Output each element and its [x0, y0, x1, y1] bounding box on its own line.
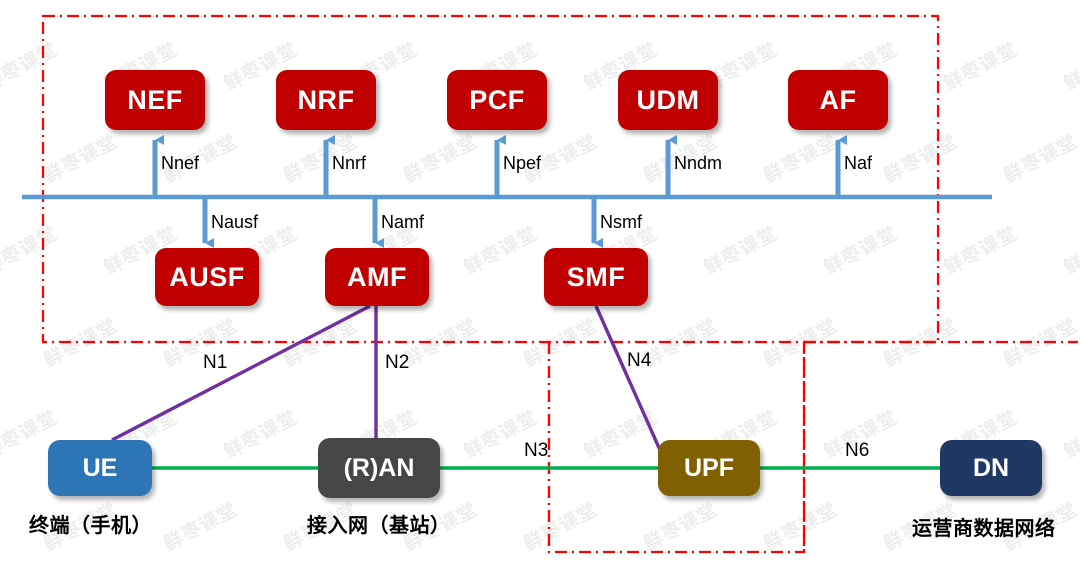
node-ran[interactable]: (R)AN	[318, 438, 440, 498]
iface-label-naf: Naf	[844, 153, 872, 174]
iface-label-nndm: Nndm	[674, 153, 722, 174]
iface-label-namf: Namf	[381, 212, 424, 233]
iface-label-nnrf: Nnrf	[332, 153, 366, 174]
ref-label-n6: N6	[845, 440, 869, 462]
link-n4	[596, 306, 668, 468]
node-smf[interactable]: SMF	[544, 248, 648, 306]
node-nrf-label: NRF	[298, 85, 355, 116]
node-ausf[interactable]: AUSF	[155, 248, 259, 306]
caption-ue: 终端（手机）	[29, 509, 152, 538]
node-amf[interactable]: AMF	[325, 248, 429, 306]
node-ausf-label: AUSF	[169, 262, 245, 293]
ref-label-n1: N1	[203, 352, 227, 374]
ref-label-n4: N4	[627, 350, 651, 372]
node-upf-label: UPF	[684, 454, 734, 483]
ref-label-n3: N3	[524, 440, 548, 462]
node-pcf[interactable]: PCF	[447, 70, 547, 130]
node-ue-label: UE	[83, 454, 118, 483]
caption-dn: 运营商数据网络	[912, 512, 1056, 541]
node-af-label: AF	[820, 85, 857, 116]
node-udm-label: UDM	[637, 85, 700, 116]
iface-label-npef: Npef	[503, 153, 541, 174]
node-ran-label: (R)AN	[344, 454, 415, 483]
diagram-canvas: 鲜枣课堂鲜枣课堂鲜枣课堂鲜枣课堂鲜枣课堂鲜枣课堂鲜枣课堂鲜枣课堂鲜枣课堂鲜枣课堂…	[0, 0, 1080, 568]
node-amf-label: AMF	[347, 262, 407, 293]
node-smf-label: SMF	[567, 262, 626, 293]
iface-label-nsmf: Nsmf	[600, 212, 642, 233]
iface-label-nnef: Nnef	[161, 153, 199, 174]
node-dn-label: DN	[973, 454, 1009, 483]
caption-ran: 接入网（基站）	[307, 509, 451, 538]
node-nef-label: NEF	[127, 85, 183, 116]
node-dn[interactable]: DN	[940, 440, 1042, 496]
node-nrf[interactable]: NRF	[276, 70, 376, 130]
node-af[interactable]: AF	[788, 70, 888, 130]
link-n1	[112, 306, 370, 440]
node-nef[interactable]: NEF	[105, 70, 205, 130]
node-pcf-label: PCF	[469, 85, 525, 116]
node-ue[interactable]: UE	[48, 440, 152, 496]
node-upf[interactable]: UPF	[658, 440, 760, 496]
ref-label-n2: N2	[385, 352, 409, 374]
iface-label-nausf: Nausf	[211, 212, 258, 233]
node-udm[interactable]: UDM	[618, 70, 718, 130]
